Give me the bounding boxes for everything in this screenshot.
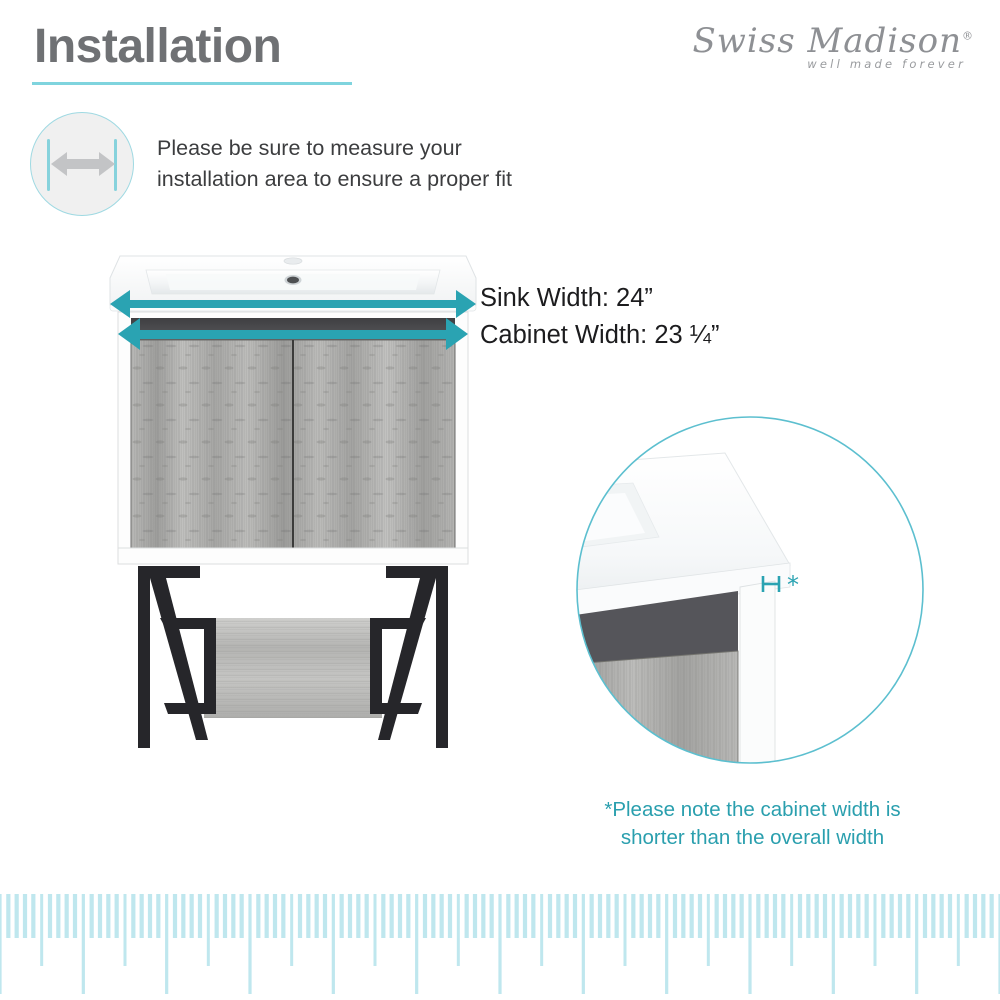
ruler-tick (281, 894, 285, 938)
ruler-tick (940, 894, 944, 938)
ruler-tick (306, 894, 310, 938)
ruler-tick (381, 894, 385, 938)
ruler-tick (265, 894, 269, 938)
ruler-tick (815, 894, 819, 938)
ruler-tick (431, 894, 435, 938)
ruler-tick (865, 894, 869, 938)
ruler-tick (124, 894, 127, 966)
cabinet-width-label: Cabinet Width: 23 ¼” (480, 317, 720, 354)
ruler-tick (898, 894, 902, 938)
ruler-tick (790, 894, 793, 966)
ruler-tick (615, 894, 619, 938)
ruler-tick (881, 894, 885, 938)
lower-shelf (204, 618, 382, 718)
ruler-tick (965, 894, 969, 938)
detail-asterisk-marker: * (787, 571, 799, 599)
ruler-tick (598, 894, 602, 938)
ruler-tick (56, 894, 60, 938)
ruler-tick (590, 894, 594, 938)
ruler-tick (190, 894, 194, 938)
ruler-tick (315, 894, 319, 938)
ruler-tick (681, 894, 685, 938)
metal-leg-left (138, 566, 216, 748)
ruler-tick (631, 894, 635, 938)
ruler-tick (248, 894, 251, 994)
title-underline-rule (32, 82, 352, 85)
ruler-tick (165, 894, 168, 994)
ruler-tick (848, 894, 852, 938)
ruler-tick (465, 894, 469, 938)
ruler-tick (973, 894, 977, 938)
ruler-tick (548, 894, 552, 938)
ruler-tick (765, 894, 769, 938)
ruler-tick (540, 894, 543, 966)
ruler-tick (606, 894, 610, 938)
ruler-tick (457, 894, 460, 966)
measure-instruction-line1: Please be sure to measure your (157, 133, 512, 164)
cabinet-body (118, 312, 468, 564)
ruler-tick (498, 894, 501, 994)
ruler-tick (298, 894, 302, 938)
ruler-tick (440, 894, 444, 938)
ruler-tick (223, 894, 227, 938)
ruler-tick (48, 894, 52, 938)
ruler-tick (23, 894, 27, 938)
ruler-tick (781, 894, 785, 938)
ruler-tick (156, 894, 160, 938)
ruler-tick (565, 894, 569, 938)
ruler-tick (256, 894, 260, 938)
ruler-tick (323, 894, 327, 938)
ruler-tick (923, 894, 927, 938)
ruler-tick (390, 894, 394, 938)
ruler-tick (348, 894, 352, 938)
ruler-tick (198, 894, 202, 938)
ruler-tick (723, 894, 727, 938)
cabinet-width-note: *Please note the cabinet width is shorte… (545, 796, 960, 851)
ruler-tick (115, 894, 119, 938)
ruler-tick (40, 894, 43, 966)
ruler-tick (731, 894, 735, 938)
ruler-tick (698, 894, 702, 938)
measure-bar-left-icon (47, 139, 50, 191)
ruler-tick (556, 894, 560, 938)
ruler-tick (82, 894, 85, 994)
ruler-tick (31, 894, 35, 938)
metal-leg-right (370, 566, 448, 748)
ruler-tick (448, 894, 452, 938)
measure-icon-badge (30, 112, 134, 216)
ruler-tick (215, 894, 219, 938)
ruler-tick (365, 894, 369, 938)
ruler-tick (6, 894, 10, 938)
ruler-tick (481, 894, 485, 938)
ruler-tick (740, 894, 744, 938)
ruler-tick (506, 894, 510, 938)
ruler-tick (473, 894, 477, 938)
ruler-tick (273, 894, 277, 938)
detail-inset-circle: * (575, 415, 925, 765)
ruler-tick (665, 894, 668, 994)
ruler-tick (798, 894, 802, 938)
ruler-tick (231, 894, 235, 938)
sink-width-label: Sink Width: 24” (480, 280, 720, 317)
brand-name-text: Swiss Madison (692, 21, 962, 61)
ruler-tick (181, 894, 185, 938)
ruler-tick (957, 894, 960, 966)
cabinet-width-note-line2: shorter than the overall width (545, 824, 960, 852)
ruler-tick (490, 894, 494, 938)
ruler-tick (648, 894, 652, 938)
ruler-tick (748, 894, 751, 994)
ruler-tick (523, 894, 527, 938)
ruler-tick (906, 894, 910, 938)
dimension-label-group: Sink Width: 24” Cabinet Width: 23 ¼” (480, 280, 720, 354)
page-title: Installation (34, 22, 281, 72)
ruler-tick (148, 894, 152, 938)
ruler-tick (840, 894, 844, 938)
installation-infographic: Installation Swiss Madison® well made fo… (0, 0, 1000, 1000)
ruler-decoration (0, 880, 1000, 1000)
ruler-tick (15, 894, 19, 938)
ruler-tick (656, 894, 660, 938)
ruler-tick (173, 894, 177, 938)
cabinet-doors (131, 340, 455, 548)
ruler-tick (0, 894, 2, 994)
vanity-illustration (108, 248, 478, 768)
measure-instruction-line2: installation area to ensure a proper fit (157, 164, 512, 195)
ruler-tick (332, 894, 335, 994)
ruler-tick (756, 894, 760, 938)
ruler-tick (374, 894, 377, 966)
ruler-tick (340, 894, 344, 938)
ruler-tick (140, 894, 144, 938)
ruler-tick (981, 894, 985, 938)
ruler-tick (515, 894, 519, 938)
ruler-tick (423, 894, 427, 938)
ruler-tick (823, 894, 827, 938)
ruler-tick (890, 894, 894, 938)
ruler-tick (806, 894, 810, 938)
ruler-tick (98, 894, 102, 938)
ruler-tick (856, 894, 860, 938)
ruler-tick (398, 894, 402, 938)
ruler-tick (240, 894, 244, 938)
registered-trademark-icon: ® (962, 30, 974, 43)
ruler-tick (931, 894, 935, 938)
ruler-tick (573, 894, 577, 938)
ruler-tick (874, 894, 877, 966)
ruler-tick (624, 894, 627, 966)
ruler-tick (207, 894, 210, 966)
ruler-tick (106, 894, 110, 938)
ruler-tick (990, 894, 994, 938)
ruler-tick (131, 894, 135, 938)
detail-inset-content (575, 453, 790, 765)
ruler-tick (948, 894, 952, 938)
ruler-tick (582, 894, 585, 994)
ruler-tick (406, 894, 410, 938)
cabinet-width-note-line1: *Please note the cabinet width is (545, 796, 960, 824)
ruler-tick (356, 894, 360, 938)
ruler-tick (531, 894, 535, 938)
ruler-tick (707, 894, 710, 966)
ruler-tick (65, 894, 69, 938)
ruler-tick (673, 894, 677, 938)
ruler-tick (415, 894, 418, 994)
ruler-tick (90, 894, 94, 938)
brand-logo: Swiss Madison® well made forever (674, 24, 974, 71)
ruler-tick (690, 894, 694, 938)
ruler-tick (73, 894, 77, 938)
width-arrow-icon (51, 149, 115, 179)
ruler-tick (832, 894, 835, 994)
ruler-tick (715, 894, 719, 938)
measure-instruction-text: Please be sure to measure your installat… (157, 133, 512, 195)
ruler-tick (290, 894, 293, 966)
brand-name: Swiss Madison® (674, 24, 974, 60)
ruler-tick (773, 894, 777, 938)
ruler-tick (640, 894, 644, 938)
ruler-tick (915, 894, 918, 994)
